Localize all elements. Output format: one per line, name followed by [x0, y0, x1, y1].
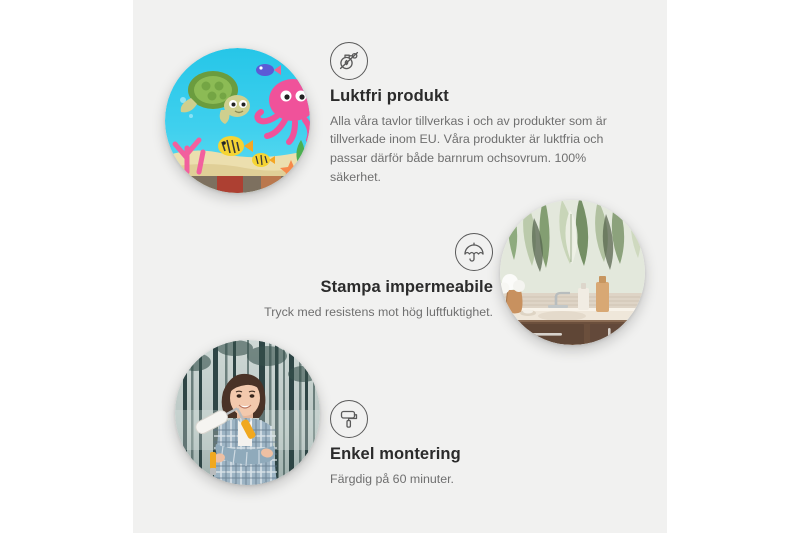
feature-waterproof-description: Tryck med resistens mot hög luftfuktighe… — [205, 303, 493, 322]
feature-easy-mounting-description: Färgdig på 60 minuter. — [330, 470, 618, 489]
underwater-cartoon-scene — [165, 48, 310, 193]
content-panel: Luktfri produkt Alla våra tavlor tillver… — [133, 0, 667, 533]
photo-forest-installer — [175, 340, 320, 485]
photo-underwater-mural — [165, 48, 310, 193]
feature-odorless-title: Luktfri produkt — [330, 86, 618, 107]
feature-waterproof: Stampa impermeabile Tryck med resistens … — [205, 233, 495, 333]
feature-odorless: Luktfri produkt Alla våra tavlor tillver… — [330, 42, 620, 187]
no-fragrance-icon — [330, 42, 368, 80]
woman-with-paint-roller-forest-wallpaper — [175, 340, 320, 485]
feature-easy-mounting-title: Enkel montering — [330, 444, 618, 465]
paint-roller-icon — [330, 400, 368, 438]
feature-waterproof-text: Stampa impermeabile Tryck med resistens … — [205, 277, 493, 321]
infographic-page: Luktfri produkt Alla våra tavlor tillver… — [0, 0, 800, 533]
feature-easy-mounting: Enkel montering Färgdig på 60 minuter. — [330, 400, 620, 490]
bathroom-tropical-wallpaper-scene — [500, 200, 645, 345]
umbrella-icon — [455, 233, 493, 271]
feature-odorless-text: Luktfri produkt Alla våra tavlor tillver… — [330, 86, 618, 187]
feature-odorless-description: Alla våra tavlor tillverkas i och av pro… — [330, 112, 618, 187]
feature-waterproof-title: Stampa impermeabile — [205, 277, 493, 298]
feature-easy-mounting-text: Enkel montering Färgdig på 60 minuter. — [330, 444, 618, 488]
photo-bathroom-tropical — [500, 200, 645, 345]
